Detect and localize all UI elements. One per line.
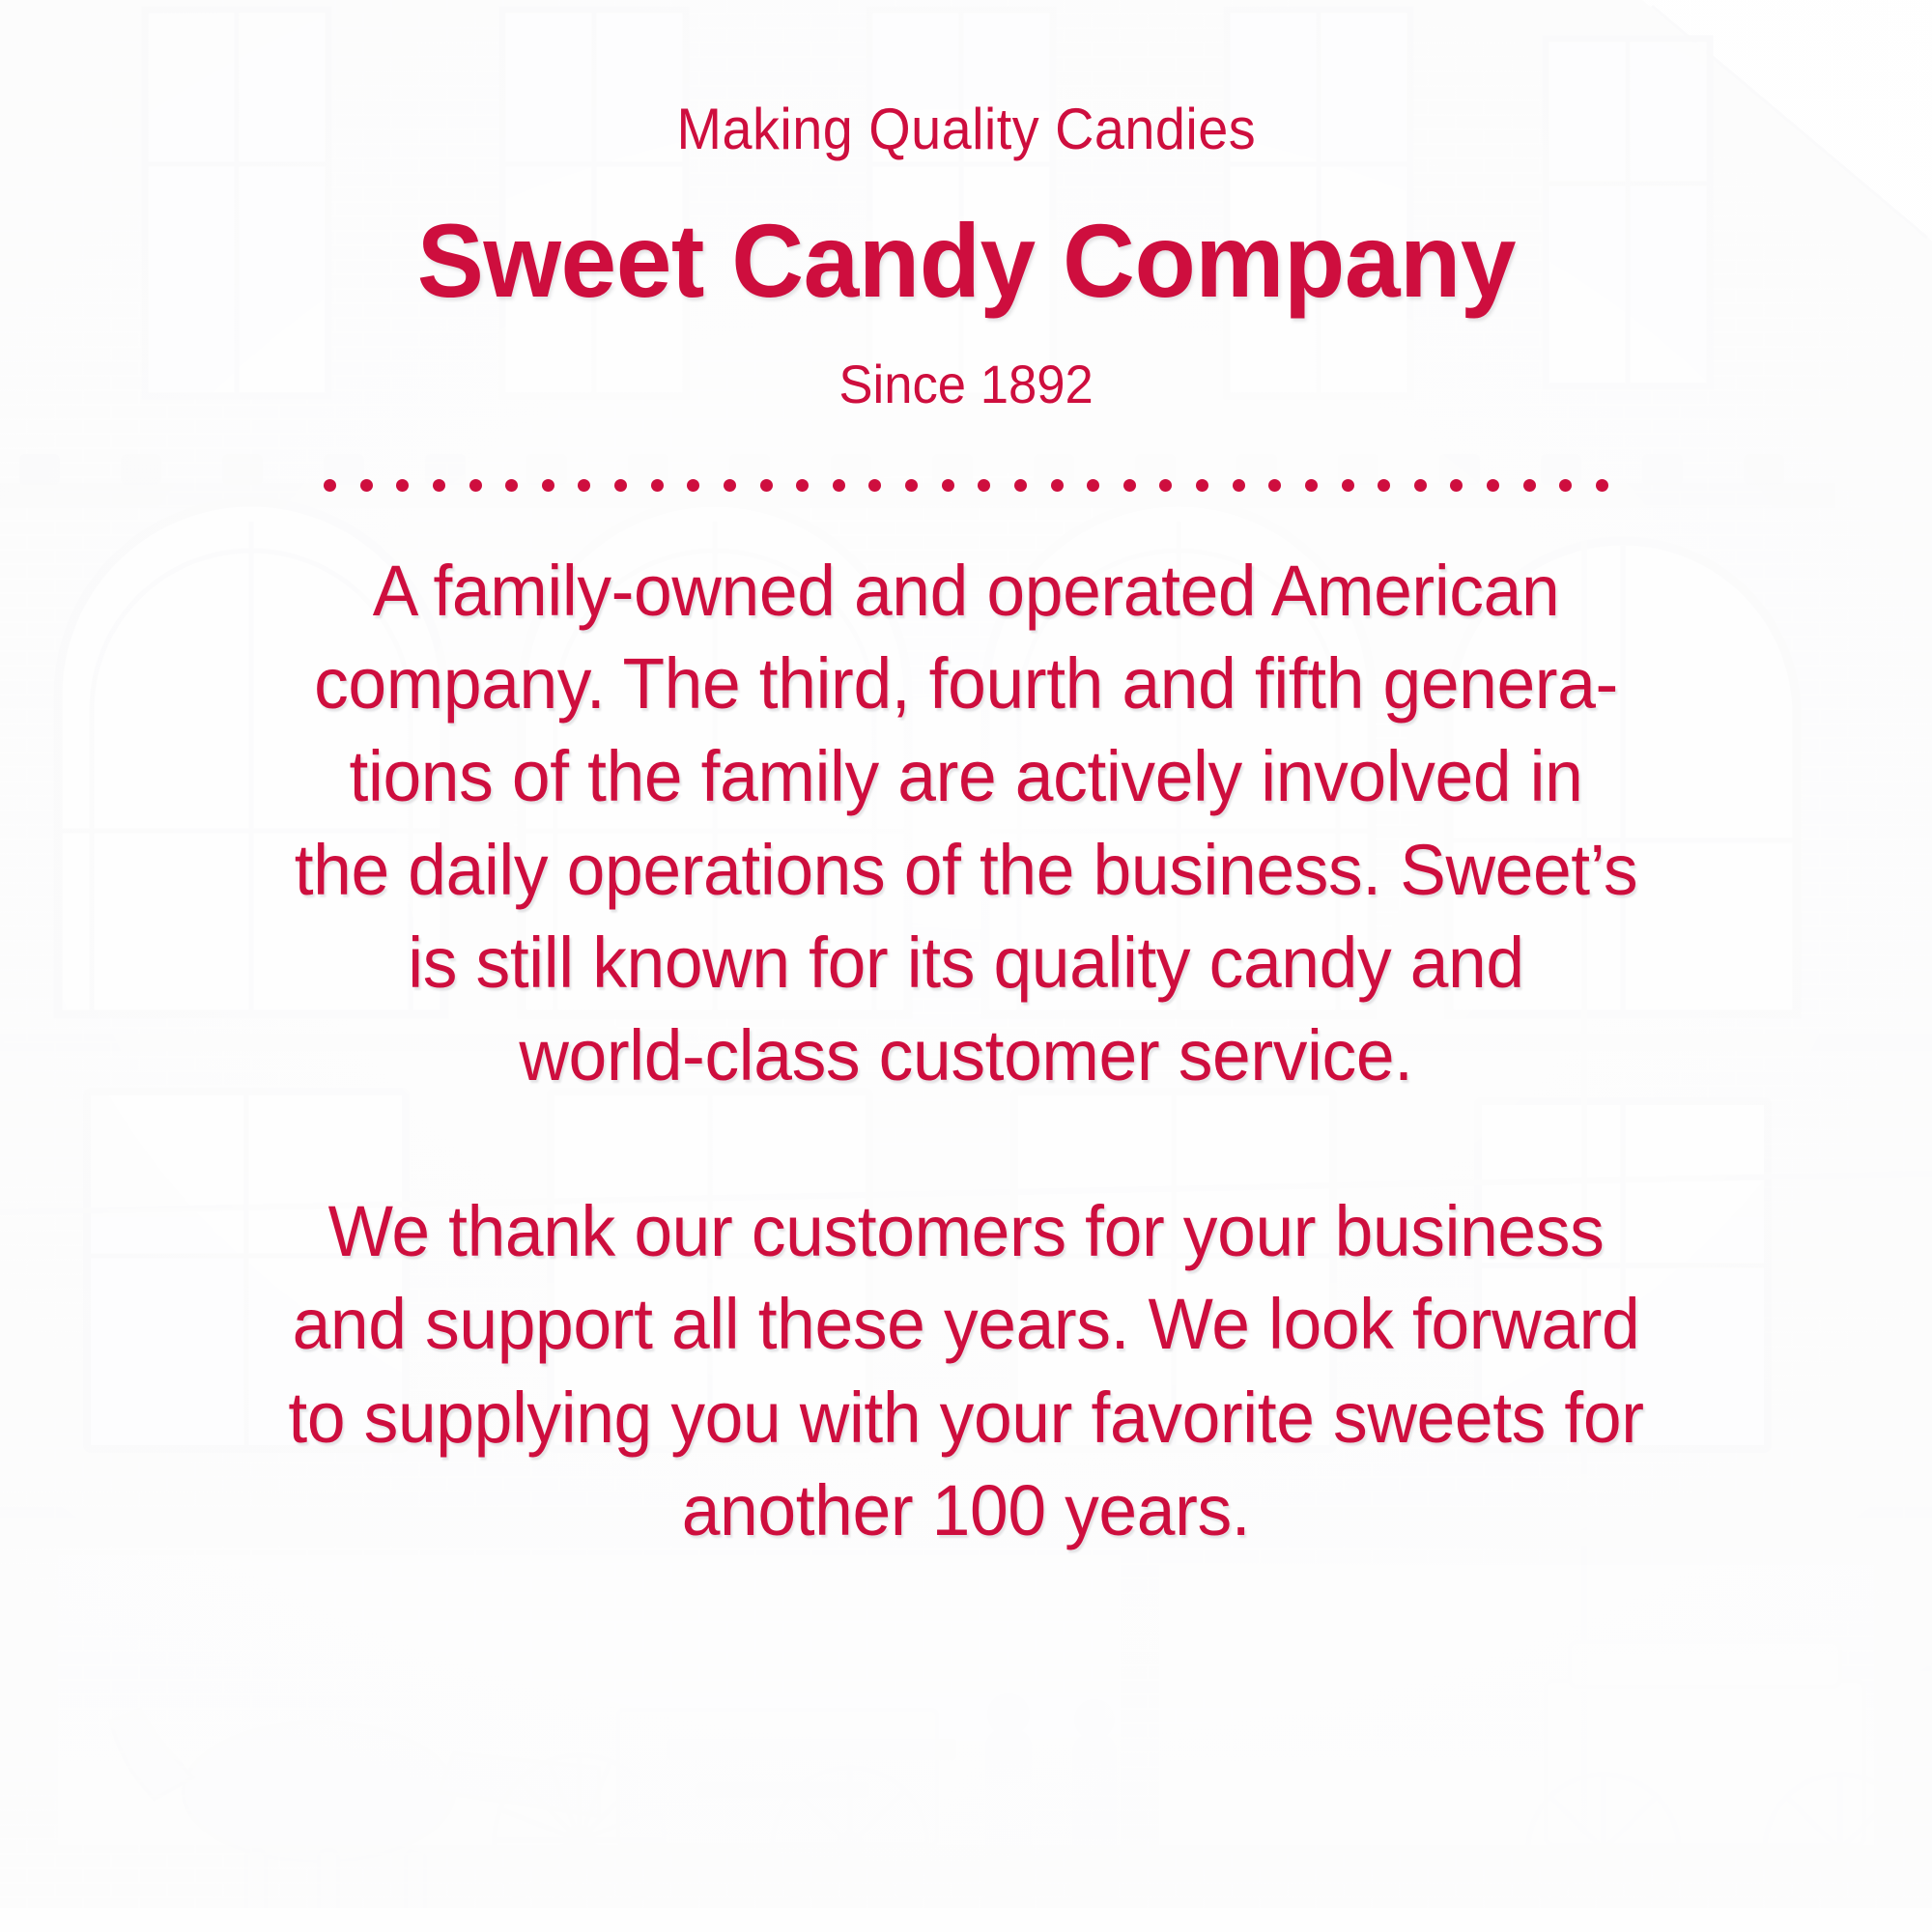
paragraph-one-line: the daily operations of the business. Sw… [164,824,1768,917]
paragraph-one-line: world-class customer service. [164,1009,1768,1102]
paragraph-one: A family-owned and operated American com… [164,545,1768,1102]
divider-dot [1051,479,1064,492]
brand-name-title: Sweet Candy Company [416,209,1515,313]
divider-dot [1014,479,1027,492]
divider-dot [469,479,482,492]
poster-canvas: Making Quality Candies Sweet Candy Compa… [0,0,1932,1932]
paragraph-one-line: is still known for its quality candy and [164,917,1768,1009]
divider-dot [760,479,773,492]
paragraph-two-line: to supplying you with your favorite swee… [164,1372,1768,1464]
established-year: Since 1892 [838,357,1093,412]
divider-dot [687,479,699,492]
brand-tagline: Making Quality Candies [676,100,1256,158]
divider-dot [1523,479,1536,492]
paragraph-two-line: another 100 years. [164,1464,1768,1557]
divider-dot [1342,479,1354,492]
divider-dot [1487,479,1499,492]
divider-dot [651,479,664,492]
divider-dot [542,479,554,492]
paragraph-two-line: and support all these years. We look for… [164,1278,1768,1371]
divider-dot [905,479,918,492]
divider-dot [833,479,845,492]
paragraph-two: We thank our customers for your business… [164,1185,1768,1557]
divider-dot [578,479,590,492]
divider-dot [1159,479,1172,492]
paragraph-two-line: We thank our customers for your business [164,1185,1768,1278]
paragraph-one-line: A family-owned and operated American [164,545,1768,638]
divider-dot [1596,479,1608,492]
divider-dot [1378,479,1390,492]
divider-dot [1196,479,1208,492]
divider-dot [396,479,409,492]
divider-dot [360,479,373,492]
divider-dot [978,479,990,492]
divider-dot [433,479,445,492]
divider-dot [1450,479,1463,492]
divider-dot [1305,479,1318,492]
divider-dot [505,479,518,492]
divider-dot [1414,479,1427,492]
divider-dot [1233,479,1245,492]
paragraph-one-line: company. The third, fourth and fifth gen… [164,638,1768,730]
divider-dot [724,479,736,492]
divider-dot [796,479,809,492]
divider-dot [1087,479,1099,492]
dotted-divider [324,475,1608,495]
divider-dot [324,479,336,492]
poster-content: Making Quality Candies Sweet Candy Compa… [0,0,1932,1932]
divider-dot [868,479,881,492]
divider-dot [1123,479,1136,492]
paragraph-one-line: tions of the family are actively involve… [164,730,1768,823]
divider-dot [614,479,627,492]
divider-dot [942,479,954,492]
body-copy: A family-owned and operated American com… [135,545,1797,1557]
divider-dot [1268,479,1281,492]
divider-dot [1559,479,1572,492]
